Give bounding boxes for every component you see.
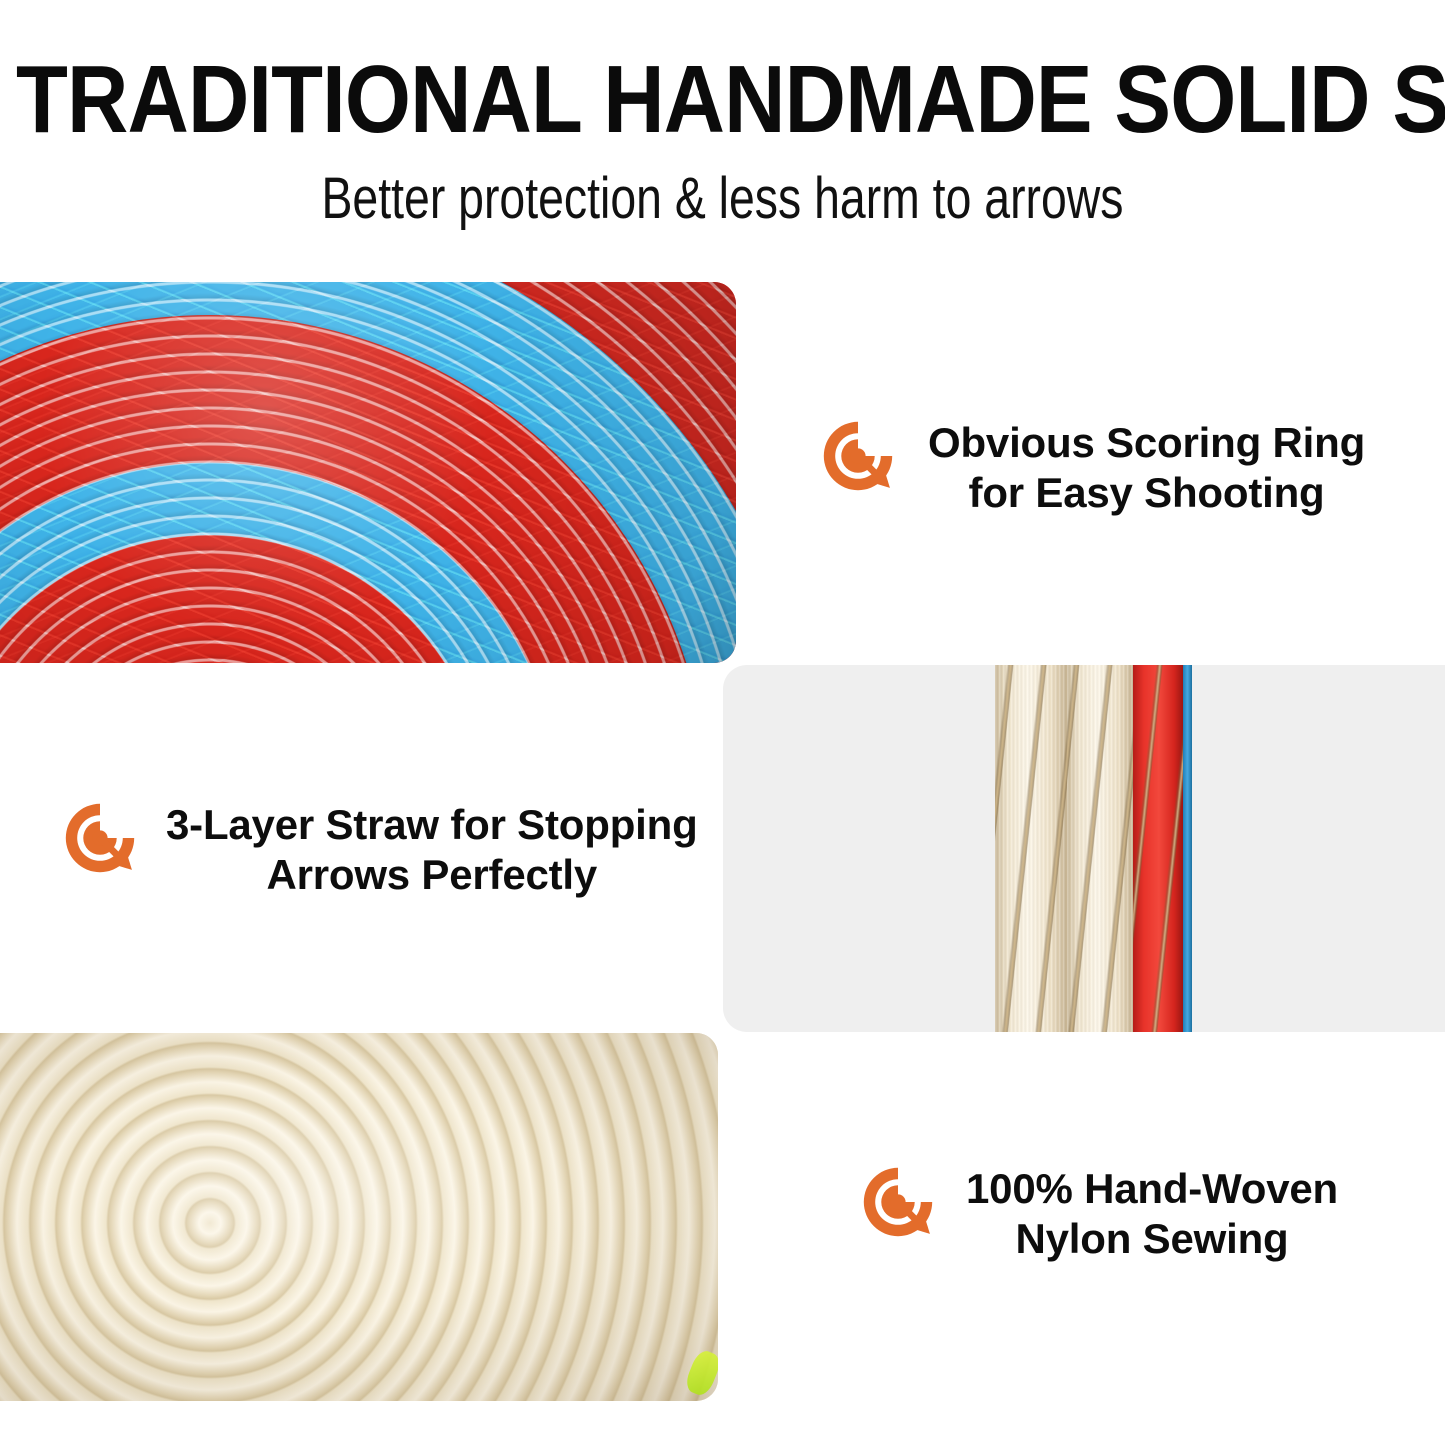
coil-blue-edge (1183, 665, 1192, 1032)
feature-callout-three-layer-straw: 3-Layer Straw for Stopping Arrows Perfec… (62, 800, 698, 900)
photo-vignette (0, 1033, 718, 1401)
straw-coil-stack (995, 665, 1195, 1032)
feature-line-1: Obvious Scoring Ring (928, 418, 1365, 468)
target-arrow-icon (62, 800, 138, 881)
nylon-stitch-line (1067, 665, 1133, 1032)
feature-line-1: 100% Hand-Woven (966, 1164, 1338, 1214)
feature-line-1: 3-Layer Straw for Stopping (166, 800, 698, 850)
coil-straw-right (1067, 665, 1133, 1032)
feature-label: 3-Layer Straw for Stopping Arrows Perfec… (166, 800, 698, 900)
feature-callout-hand-woven-nylon: 100% Hand-Woven Nylon Sewing (860, 1164, 1338, 1264)
header: TRADITIONAL HANDMADE SOLID STRAW Better … (0, 0, 1445, 270)
feature-line-2: Nylon Sewing (966, 1214, 1338, 1264)
image-layer-cross-section (723, 665, 1445, 1032)
feature-line-2: Arrows Perfectly (166, 850, 698, 900)
target-arrow-icon (860, 1164, 936, 1245)
image-straw-back-spiral (0, 1033, 718, 1401)
coil-straw-left (995, 665, 1067, 1032)
feature-callout-obvious-scoring-ring: Obvious Scoring Ring for Easy Shooting (820, 418, 1365, 518)
coil-red-painted (1133, 665, 1183, 1032)
nylon-stitch-line (995, 665, 1067, 1032)
feature-line-2: for Easy Shooting (928, 468, 1365, 518)
feature-label: 100% Hand-Woven Nylon Sewing (966, 1164, 1338, 1264)
page-subtitle: Better protection & less harm to arrows (145, 168, 1301, 230)
target-arrow-icon (820, 418, 896, 499)
image-target-face-closeup (0, 282, 736, 663)
photo-vignette (0, 282, 736, 663)
page-title: TRADITIONAL HANDMADE SOLID STRAW (16, 52, 1268, 148)
nylon-stitch-line (1133, 665, 1183, 1032)
feature-label: Obvious Scoring Ring for Easy Shooting (928, 418, 1365, 518)
